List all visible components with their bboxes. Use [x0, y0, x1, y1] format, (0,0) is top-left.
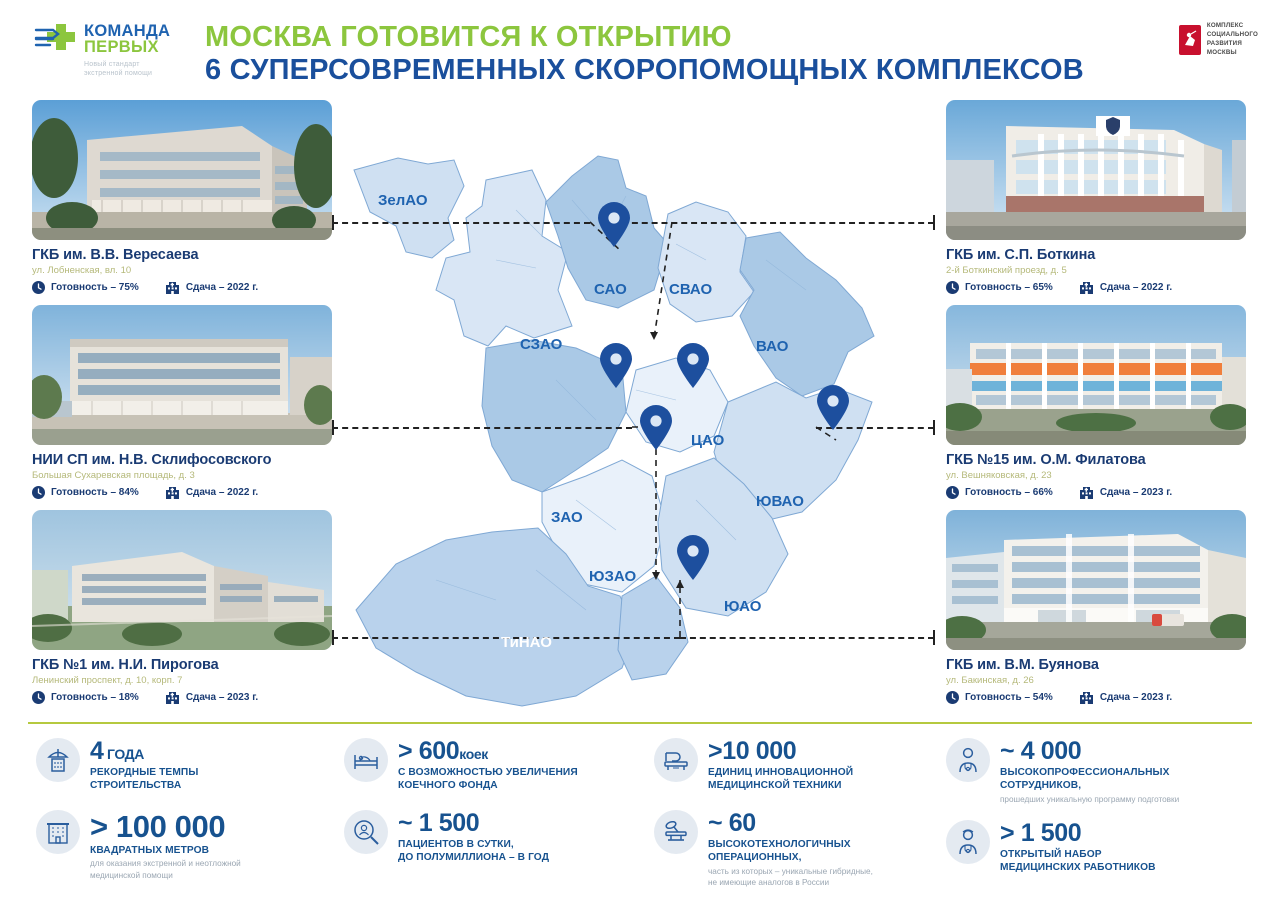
delivery-meta: Сдача – 2023 г. — [1079, 486, 1172, 499]
hospital-name: ГКБ им. В.М. Буянова — [946, 657, 1246, 673]
readiness-meta: Готовность – 65% — [946, 281, 1053, 294]
stat-note: часть из которых – уникальные гибридные,… — [708, 866, 873, 888]
district-label-yuzao: ЮЗАО — [589, 568, 636, 585]
gov-line-1: КОМПЛЕКС — [1207, 22, 1258, 31]
page-title: МОСКВА ГОТОВИТСЯ К ОТКРЫТИЮ 6 СУПЕРСОВРЕ… — [205, 22, 1165, 87]
district-label-svao: СВАО — [669, 281, 712, 298]
delivery-meta: Сдача – 2022 г. — [165, 486, 258, 499]
district-label-yuvao: ЮВАО — [756, 493, 804, 510]
hospital-photo — [946, 510, 1246, 650]
connector-line-top-right — [622, 222, 934, 224]
map-pin-veresaev[interactable] — [597, 202, 631, 248]
hospital-photo — [946, 305, 1246, 445]
hospital-meta: Готовность – 75% Сдача – 2022 г. — [32, 281, 332, 294]
stat-note: для оказания экстренной и неотложной мед… — [90, 858, 241, 880]
stat-recruitment: > 1 500 ОТКРЫТЫЙ НАБОР МЕДИЦИНСКИХ РАБОТ… — [946, 820, 1156, 875]
stat-value: ~ 4 000 — [1000, 739, 1179, 764]
stat-beds: > 600коек С ВОЗМОЖНОСТЬЮ УВЕЛИЧЕНИЯ КОЕЧ… — [344, 738, 578, 793]
clock-icon — [946, 486, 959, 499]
hospital-card-sklifosovsky[interactable]: НИИ СП им. Н.В. Склифосовского Большая С… — [32, 305, 332, 499]
hospital-card-filatov[interactable]: ГКБ №15 им. О.М. Филатова ул. Вешняковск… — [946, 305, 1246, 499]
hospital-address: ул. Бакинская, д. 26 — [946, 675, 1246, 686]
section-divider — [28, 722, 1252, 724]
apartment-building-icon — [36, 810, 80, 854]
hospital-meta: Готовность – 65% Сдача – 2022 г. — [946, 281, 1246, 294]
district-label-zelao: ЗелАО — [378, 192, 428, 209]
logo-line-2: ПЕРВЫХ — [84, 39, 170, 56]
readiness-value: Готовность – 54% — [965, 692, 1053, 703]
gov-line-4: МОСКВЫ — [1207, 49, 1258, 58]
stat-caption: ОТКРЫТЫЙ НАБОР МЕДИЦИНСКИХ РАБОТНИКОВ — [1000, 848, 1156, 875]
gov-logo-text: КОМПЛЕКС СОЦИАЛЬНОГО РАЗВИТИЯ МОСКВЫ — [1207, 22, 1258, 58]
hospital-meta: Готовность – 66% Сдача – 2023 г. — [946, 486, 1246, 499]
district-label-tinao: ТиНАО — [501, 634, 552, 651]
hospital-name: ГКБ им. С.П. Боткина — [946, 247, 1246, 263]
logo-subtitle-1: Новый стандарт — [84, 61, 184, 70]
hospital-card-botkin[interactable]: ГКБ им. С.П. Боткина 2-й Боткинский прое… — [946, 100, 1246, 294]
logo-line-1: КОМАНДА — [84, 23, 170, 40]
district-label-zao: ЗАО — [551, 509, 583, 526]
readiness-meta: Готовность – 84% — [32, 486, 139, 499]
clock-icon — [946, 691, 959, 704]
hospital-building-icon — [1079, 486, 1094, 499]
stat-value: >10 000 — [708, 739, 853, 764]
delivery-value: Сдача – 2022 г. — [1100, 282, 1172, 293]
delivery-value: Сдача – 2023 г. — [1100, 487, 1172, 498]
connector-line-top-left — [332, 222, 590, 224]
connector-tick-top-right — [933, 215, 935, 230]
district-label-yuao: ЮАО — [724, 598, 761, 615]
hospital-building-icon — [165, 486, 180, 499]
delivery-value: Сдача – 2022 г. — [186, 487, 258, 498]
stat-note: прошедших уникальную программу подготовк… — [1000, 794, 1179, 805]
delivery-value: Сдача – 2023 г. — [186, 692, 258, 703]
readiness-meta: Готовность – 75% — [32, 281, 139, 294]
district-label-tsao: ЦАО — [691, 432, 724, 449]
clock-icon — [32, 691, 45, 704]
readiness-meta: Готовность – 18% — [32, 691, 139, 704]
readiness-meta: Готовность – 66% — [946, 486, 1053, 499]
operating-table-icon — [654, 810, 698, 854]
delivery-meta: Сдача – 2023 г. — [165, 691, 258, 704]
hospital-address: Большая Сухаревская площадь, д. 3 — [32, 470, 332, 481]
gov-logo: КОМПЛЕКС СОЦИАЛЬНОГО РАЗВИТИЯ МОСКВЫ — [1179, 22, 1258, 58]
doctor-female-icon — [946, 820, 990, 864]
delivery-value: Сдача – 2022 г. — [186, 282, 258, 293]
connector-tick-bottom-left — [332, 630, 334, 645]
hospital-name: ГКБ им. В.В. Вересаева — [32, 247, 332, 263]
hospital-meta: Готовность – 84% Сдача – 2022 г. — [32, 486, 332, 499]
stat-operating-rooms: ~ 60 ВЫСОКОТЕХНОЛОГИЧНЫХ ОПЕРАЦИОННЫХ, ч… — [654, 810, 873, 888]
header: КОМАНДА ПЕРВЫХ Новый стандарт экстренной… — [0, 0, 1280, 92]
stat-caption: ЕДИНИЦ ИННОВАЦИОННОЙ МЕДИЦИНСКОЙ ТЕХНИКИ — [708, 766, 853, 793]
hospital-card-veresaev[interactable]: ГКБ им. В.В. Вересаева ул. Лобненская, в… — [32, 100, 332, 294]
stat-value: > 1 500 — [1000, 821, 1156, 846]
stat-staff: ~ 4 000 ВЫСОКОПРОФЕССИОНАЛЬНЫХ СОТРУДНИК… — [946, 738, 1179, 805]
hospital-address: 2-й Боткинский проезд, д. 5 — [946, 265, 1246, 276]
district-label-sao: САО — [594, 281, 627, 298]
gov-line-2: СОЦИАЛЬНОГО — [1207, 31, 1258, 40]
mri-scanner-icon — [654, 738, 698, 782]
stat-patients: ~ 1 500 ПАЦИЕНТОВ В СУТКИ, ДО ПОЛУМИЛЛИО… — [344, 810, 549, 865]
stat-caption: С ВОЗМОЖНОСТЬЮ УВЕЛИЧЕНИЯ КОЕЧНОГО ФОНДА — [398, 766, 578, 793]
hospital-building-icon — [165, 281, 180, 294]
hospital-name: НИИ СП им. Н.В. Склифосовского — [32, 452, 332, 468]
delivery-meta: Сдача – 2022 г. — [1079, 281, 1172, 294]
delivery-meta: Сдача – 2023 г. — [1079, 691, 1172, 704]
stat-value: 4 ГОДА — [90, 739, 198, 764]
stat-value: ~ 1 500 — [398, 811, 549, 836]
construction-crane-building-icon — [36, 738, 80, 782]
stat-caption: ВЫСОКОТЕХНОЛОГИЧНЫХ ОПЕРАЦИОННЫХ, — [708, 838, 873, 865]
map-pin-buyanov[interactable] — [676, 535, 710, 581]
stat-caption: ПАЦИЕНТОВ В СУТКИ, ДО ПОЛУМИЛЛИОНА – В Г… — [398, 838, 549, 865]
delivery-value: Сдача – 2023 г. — [1100, 692, 1172, 703]
hospital-meta: Готовность – 54% Сдача – 2023 г. — [946, 691, 1246, 704]
logo-subtitle-2: экстренной помощи — [84, 70, 184, 79]
map-pin-pirogov[interactable] — [639, 405, 673, 451]
stat-caption: КВАДРАТНЫХ МЕТРОВ — [90, 844, 241, 857]
hospital-name: ГКБ №1 им. Н.И. Пирогова — [32, 657, 332, 673]
connector-tick-bottom-right — [933, 630, 935, 645]
stat-equipment: >10 000 ЕДИНИЦ ИННОВАЦИОННОЙ МЕДИЦИНСКОЙ… — [654, 738, 853, 793]
stat-value: > 600коек — [398, 739, 578, 764]
readiness-meta: Готовность – 54% — [946, 691, 1053, 704]
stat-square-meters: > 100 000 КВАДРАТНЫХ МЕТРОВ для оказания… — [36, 810, 241, 881]
stat-value: ~ 60 — [708, 811, 873, 836]
patient-search-icon — [344, 810, 388, 854]
moscow-coat-of-arms-icon — [1179, 25, 1201, 55]
hospital-building-icon — [1079, 691, 1094, 704]
brand-logo: КОМАНДА ПЕРВЫХ Новый стандарт экстренной… — [34, 22, 184, 92]
hospital-address: ул. Вешняковская, д. 23 — [946, 470, 1246, 481]
delivery-meta: Сдача – 2022 г. — [165, 281, 258, 294]
infographic-root: КОМАНДА ПЕРВЫХ Новый стандарт экстренной… — [0, 0, 1280, 904]
title-line-1: МОСКВА ГОТОВИТСЯ К ОТКРЫТИЮ — [205, 22, 1165, 53]
doctor-male-icon — [946, 738, 990, 782]
map-pin-sklifosovsky[interactable] — [676, 343, 710, 389]
hospital-card-pirogov[interactable]: ГКБ №1 им. Н.И. Пирогова Ленинский просп… — [32, 510, 332, 704]
hospital-building-icon — [1079, 281, 1094, 294]
readiness-value: Готовность – 66% — [965, 487, 1053, 498]
hospital-photo — [946, 100, 1246, 240]
connector-tick-top-left — [332, 215, 334, 230]
gov-line-3: РАЗВИТИЯ — [1207, 40, 1258, 49]
district-label-szao: СЗАО — [520, 336, 562, 353]
stat-years: 4 ГОДА РЕКОРДНЫЕ ТЕМПЫ СТРОИТЕЛЬСТВА — [36, 738, 198, 793]
hospital-meta: Готовность – 18% Сдача – 2023 г. — [32, 691, 332, 704]
readiness-value: Готовность – 84% — [51, 487, 139, 498]
district-label-vao: ВАО — [756, 338, 788, 355]
readiness-value: Готовность – 18% — [51, 692, 139, 703]
clock-icon — [32, 281, 45, 294]
hospital-name: ГКБ №15 им. О.М. Филатова — [946, 452, 1246, 468]
hospital-photo — [32, 305, 332, 445]
readiness-value: Готовность – 75% — [51, 282, 139, 293]
clock-icon — [946, 281, 959, 294]
map-pin-botkin[interactable] — [599, 343, 633, 389]
hospital-card-buyanov[interactable]: ГКБ им. В.М. Буянова ул. Бакинская, д. 2… — [946, 510, 1246, 704]
readiness-value: Готовность – 65% — [965, 282, 1053, 293]
hospital-address: ул. Лобненская, вл. 10 — [32, 265, 332, 276]
hospital-building-icon — [165, 691, 180, 704]
stat-value: > 100 000 — [90, 811, 241, 842]
connector-tick-mid-right — [933, 420, 935, 435]
hospital-photo — [32, 510, 332, 650]
hospital-photo — [32, 100, 332, 240]
stat-caption: РЕКОРДНЫЕ ТЕМПЫ СТРОИТЕЛЬСТВА — [90, 766, 198, 793]
stats-section: 4 ГОДА РЕКОРДНЫЕ ТЕМПЫ СТРОИТЕЛЬСТВА > 1… — [28, 734, 1256, 894]
connector-line-bottom-right — [680, 637, 934, 639]
stat-caption: ВЫСОКОПРОФЕССИОНАЛЬНЫХ СОТРУДНИКОВ, — [1000, 766, 1179, 793]
moscow-districts-map: ЗелАО САО СВАО СЗАО ВАО ЦАО ЮВАО ЗАО ЮЗА… — [336, 140, 916, 720]
title-line-2: 6 СУПЕРСОВРЕМЕННЫХ СКОРОПОМОЩНЫХ КОМПЛЕК… — [205, 55, 1165, 86]
connector-line-mid-left — [332, 427, 632, 429]
hospital-address: Ленинский проспект, д. 10, корп. 7 — [32, 675, 332, 686]
hospital-bed-icon — [344, 738, 388, 782]
cross-arrow-icon — [34, 22, 78, 56]
connector-tick-mid-left — [332, 420, 334, 435]
clock-icon — [32, 486, 45, 499]
map-pin-filatov[interactable] — [816, 385, 850, 431]
